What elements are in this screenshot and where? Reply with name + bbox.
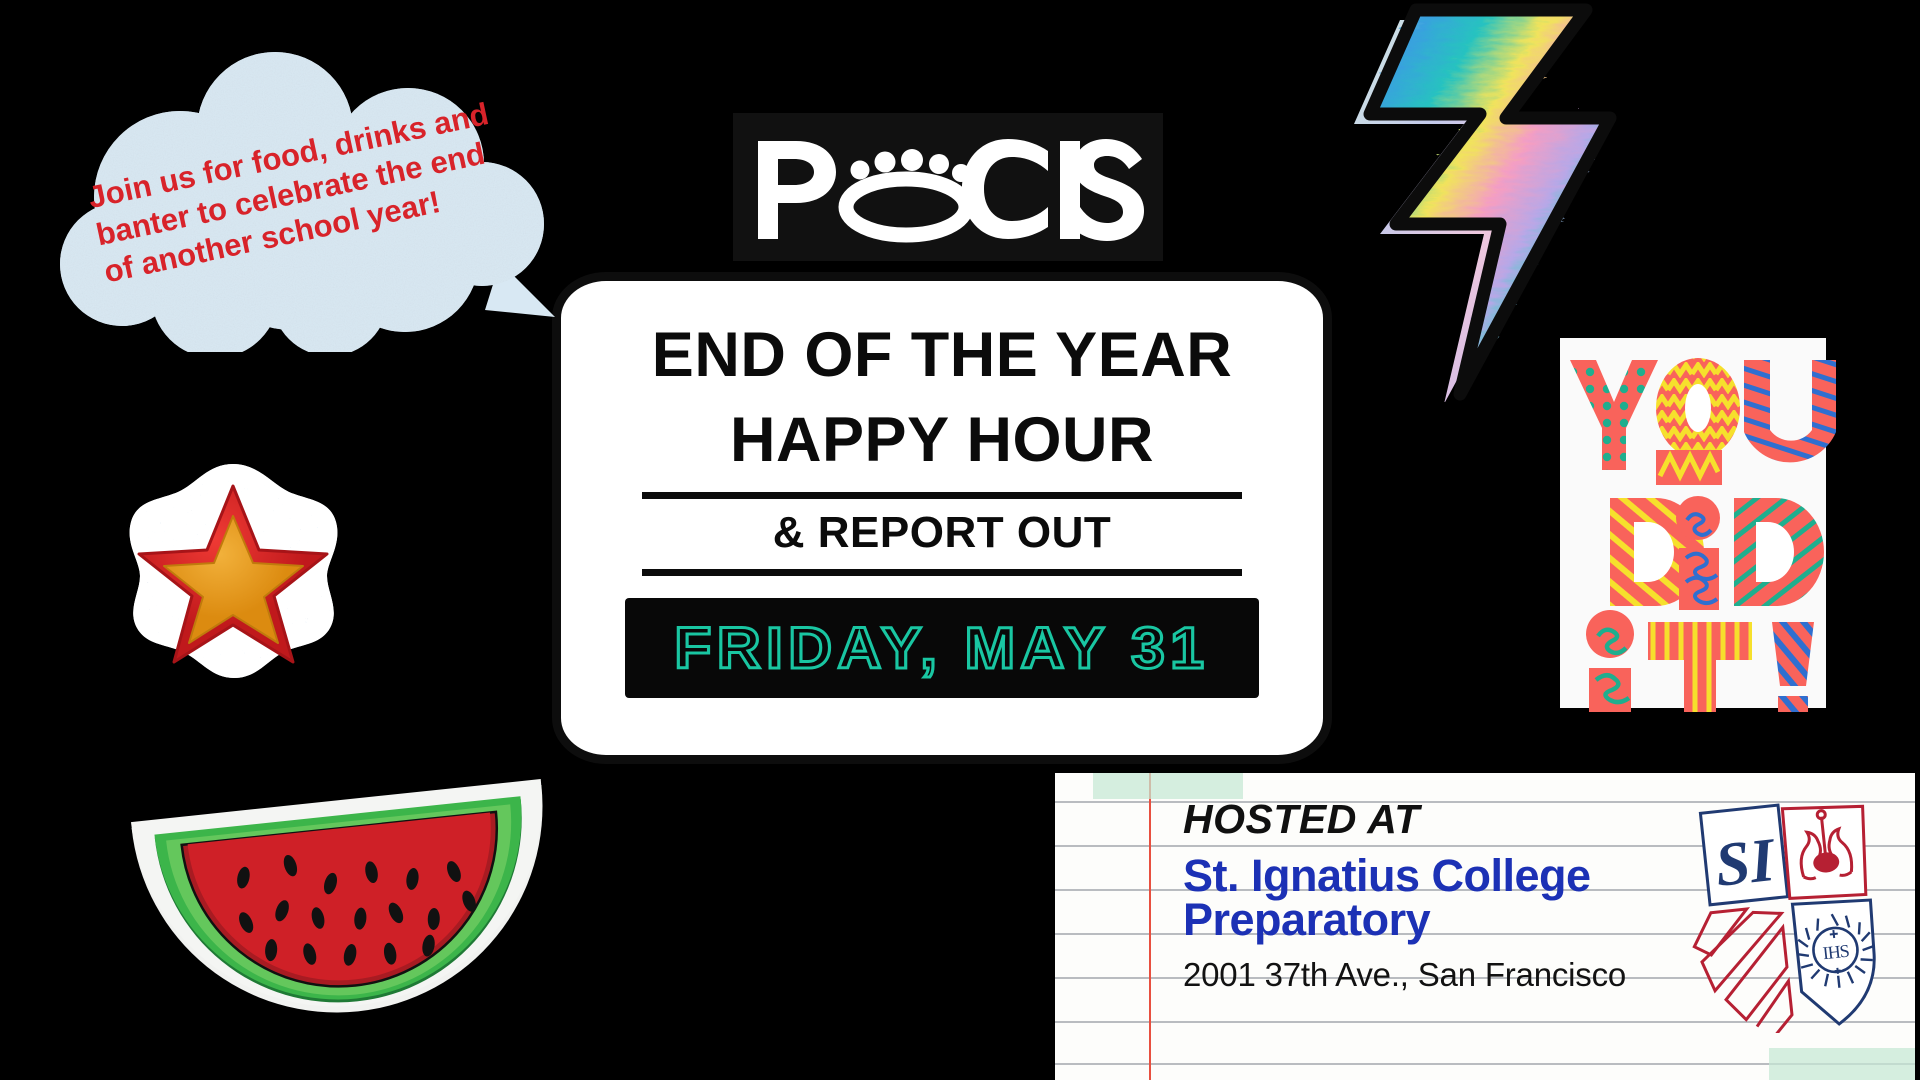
star-icon	[122, 458, 344, 682]
svg-text:SI: SI	[1712, 826, 1779, 900]
you-did-it-icon	[1548, 330, 1838, 715]
washi-tape-top-left	[1093, 773, 1243, 799]
headline-line-2: HAPPY HOUR	[730, 409, 1154, 472]
pocis-logo-icon	[748, 127, 1148, 247]
notebook-margin-line	[1149, 773, 1151, 1080]
date-text: FRIDAY, MAY 31	[674, 615, 1209, 682]
venue-name: St. Ignatius College Preparatory	[1183, 854, 1743, 942]
date-banner: FRIDAY, MAY 31	[627, 600, 1257, 696]
venue-address: 2001 37th Ave., San Francisco	[1183, 956, 1743, 994]
watermelon-icon	[126, 742, 566, 1052]
card-headline-group: END OF THE YEAR HAPPY HOUR & REPORT OUT …	[580, 320, 1304, 750]
washi-tape-bottom-right	[1769, 1048, 1915, 1080]
you-did-it-sticker	[1548, 330, 1838, 715]
headline-line-3: & REPORT OUT	[773, 511, 1111, 555]
headline-line-1: END OF THE YEAR	[652, 324, 1232, 387]
hosted-at-label: HOSTED AT	[1183, 799, 1743, 840]
cloud-speech-bubble: Join us for food, drinks and banter to c…	[30, 52, 570, 352]
si-crest-icon: SI	[1677, 787, 1893, 1033]
glitter-star-sticker	[122, 458, 344, 682]
pocis-logo-plate	[733, 113, 1163, 261]
hosted-at-note-card: HOSTED AT St. Ignatius College Preparato…	[1055, 773, 1915, 1080]
divider-rule-top	[642, 492, 1242, 499]
note-text-group: HOSTED AT St. Ignatius College Preparato…	[1183, 799, 1743, 994]
watermelon-sticker	[126, 742, 566, 1052]
divider-rule-bottom	[642, 569, 1242, 576]
svg-text:IHS: IHS	[1822, 941, 1850, 964]
event-flyer: END OF THE YEAR HAPPY HOUR & REPORT OUT …	[0, 0, 1920, 1080]
